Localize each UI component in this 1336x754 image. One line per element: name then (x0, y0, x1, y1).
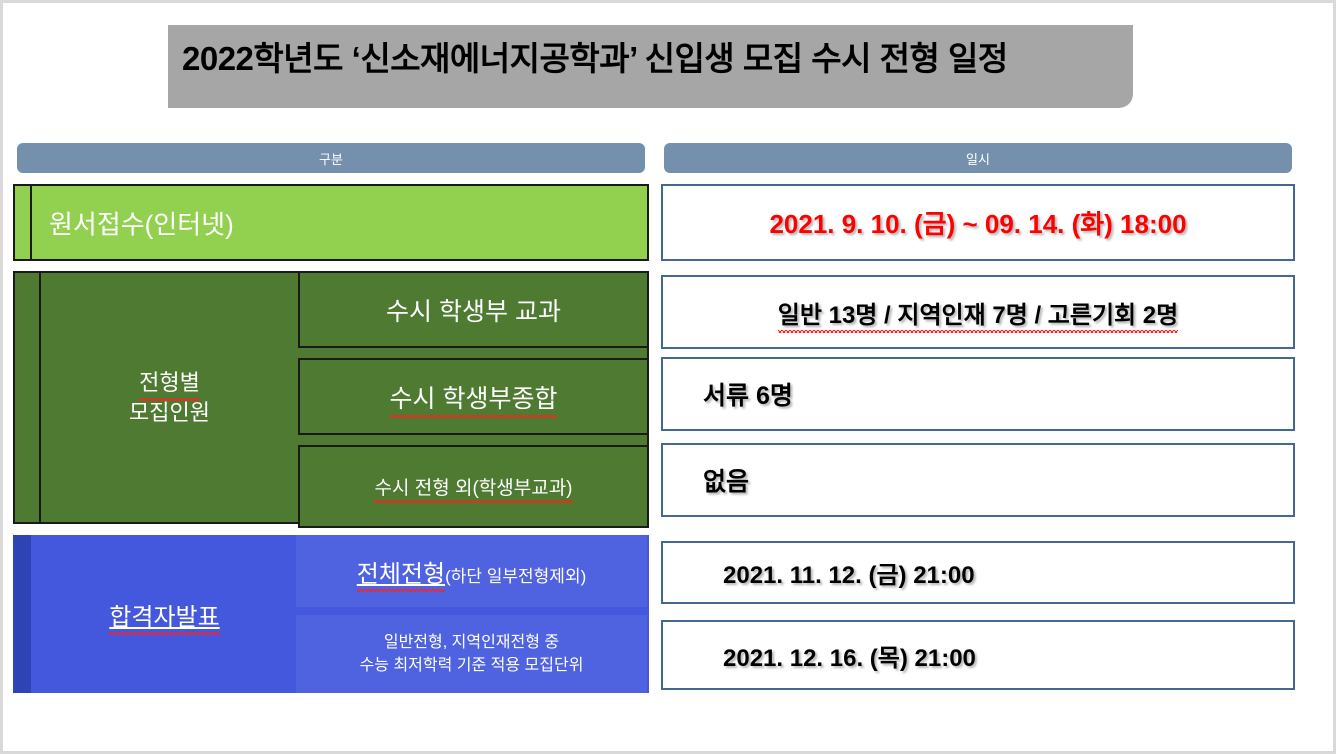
row-quota-label: 전형별 모집인원 (41, 273, 298, 522)
quota-subrow-0-label-cell: 수시 학생부 교과 (298, 271, 649, 348)
announcement-subrow-0-label-cell: 전체전형(하단 일부전형제외) (296, 535, 647, 607)
announcement-subrow-1-label-line1: 일반전형, 지역인재전형 중 (384, 634, 559, 651)
quota-subrow-1-value: 서류 6명 (661, 357, 1295, 431)
announcement-subrow-1-label-cell: 일반전형, 지역인재전형 중 수능 최저학력 기준 적용 모집단위 (296, 615, 647, 693)
quota-subrow-2-value: 없음 (661, 443, 1295, 517)
announcement-subrow-1-label-line2: 수능 최저학력 기준 적용 모집단위 (360, 657, 584, 674)
column-header-category: 구분 (17, 143, 645, 173)
row-announcement-label: 합격자발표 (109, 597, 219, 632)
row-application-label-block: 원서접수(인터넷) (13, 184, 649, 261)
page-title: 2022학년도 ‘신소재에너지공학과’ 신입생 모집 수시 전형 일정 (182, 41, 1008, 77)
column-header-datetime-label: 일시 (966, 149, 990, 168)
quota-subrow-0-label: 수시 학생부 교과 (386, 292, 561, 328)
announcement-subrow-0-value-text: 2021. 11. 12. (금) 21:00 (723, 555, 975, 590)
announcement-subrow-1-value: 2021. 12. 16. (목) 21:00 (661, 620, 1295, 690)
quota-subrow-0-value-text: 일반 13명 / 지역인재 7명 / 고른기회 2명 (778, 295, 1178, 330)
slide-canvas: 2022학년도 ‘신소재에너지공학과’ 신입생 모집 수시 전형 일정 구분 일… (0, 0, 1336, 754)
announcement-subrow-0-label-main: 전체전형 (357, 554, 445, 589)
title-banner: 2022학년도 ‘신소재에너지공학과’ 신입생 모집 수시 전형 일정 (168, 25, 1133, 108)
column-header-datetime: 일시 (664, 143, 1292, 173)
row-announcement-label-block: 합격자발표 전체전형(하단 일부전형제외) 일반전형, 지역인재전형 중 수능 … (13, 535, 649, 693)
quota-subrow-1-value-text: 서류 6명 (703, 376, 793, 412)
quota-subrow-1-label: 수시 학생부종합 (390, 379, 558, 415)
announcement-subrow-0-label-note: (하단 일부전형제외) (445, 567, 586, 586)
row-application-value-text: 2021. 9. 10. (금) ~ 09. 14. (화) 18:00 (769, 204, 1186, 241)
quota-subrow-2-label-cell: 수시 전형 외(학생부교과) (298, 445, 649, 528)
announcement-subrow-0-value: 2021. 11. 12. (금) 21:00 (661, 541, 1295, 604)
quota-subrow-2-label: 수시 전형 외(학생부교과) (374, 473, 572, 500)
row-quota-label-block: 전형별 모집인원 수시 학생부 교과 수시 학생부종합 수시 전형 외(학생부교… (13, 271, 649, 524)
quota-subrow-2-value-text: 없음 (703, 462, 749, 498)
quota-subrow-0-value: 일반 13명 / 지역인재 7명 / 고른기회 2명 (661, 275, 1295, 349)
announcement-subrow-1-value-text: 2021. 12. 16. (목) 21:00 (723, 638, 976, 673)
quota-subrow-1-label-cell: 수시 학생부종합 (298, 358, 649, 435)
row-quota-label-line1: 전형별 (139, 368, 200, 398)
row-application-divider (30, 186, 32, 259)
row-application-value: 2021. 9. 10. (금) ~ 09. 14. (화) 18:00 (661, 184, 1295, 261)
column-header-category-label: 구분 (319, 149, 343, 168)
row-application-label: 원서접수(인터넷) (49, 204, 234, 241)
row-announcement-label-wrap: 합격자발표 (33, 535, 296, 693)
row-quota-label-line2: 모집인원 (129, 398, 210, 428)
row-announcement-accent-strip (13, 535, 31, 693)
